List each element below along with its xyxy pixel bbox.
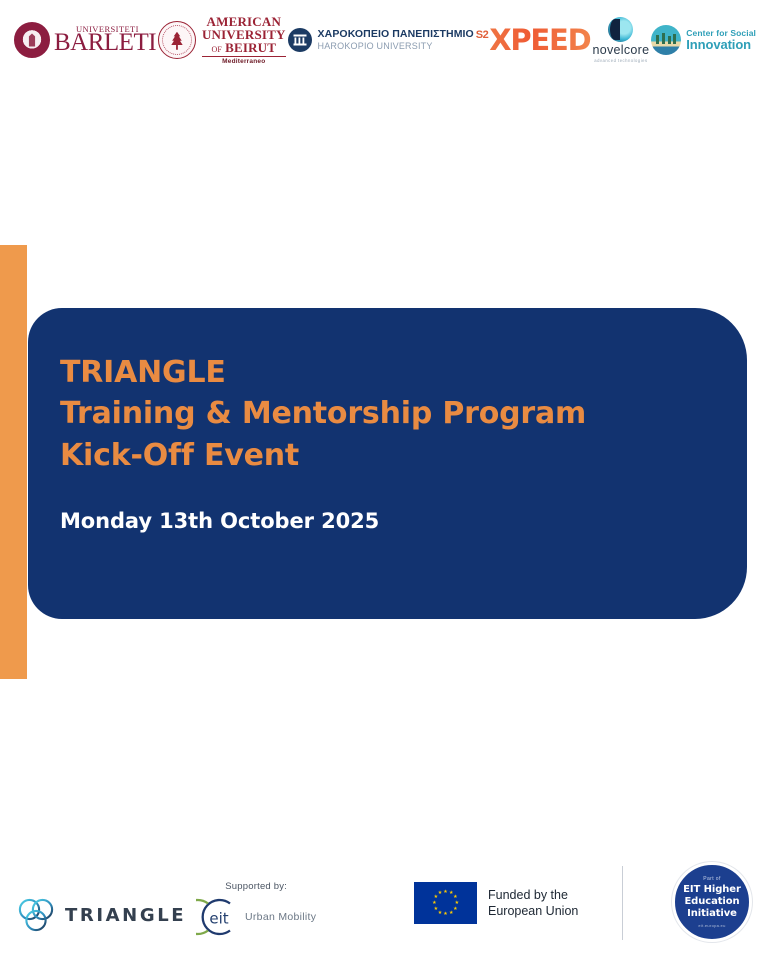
logo-s2-xpeed: S2 XPEED [476,28,591,53]
eit-urban-mobility-name: Urban Mobility [245,911,316,923]
footer-divider [622,866,623,940]
hei-badge-bottom-text: eit.europa.eu [698,923,725,928]
eit-urban-mobility-logo: eit Urban Mobility [196,896,316,938]
partner-logo-strip: UNIVERSITETI BARLETI AMERICAN UNIVERSITY… [0,0,768,80]
aub-line1: AMERICAN [207,15,282,28]
novelcore-wordmark: novelcore [592,44,649,57]
hei-badge-top-text: Part of [703,876,721,882]
eu-funding-text: Funded by the European Union [488,887,578,920]
aub-line3-row: OF BEIRUT [211,41,276,54]
logo-center-for-social-innovation: Center for Social Innovation [651,25,756,55]
triangle-project-logo: TRIANGLE [16,896,186,934]
hero-panel: TRIANGLE Training & Mentorship Program K… [28,308,747,619]
barleti-wordmark: UNIVERSITETI BARLETI [54,25,156,54]
logo-american-university-of-beirut: AMERICAN UNIVERSITY OF BEIRUT Mediterran… [158,15,286,66]
xpeed-prefix: S2 [476,30,488,41]
logo-harokopio-university: ΧΑΡΟΚΟΠΕΙΟ ΠΑΝΕΠΙΣΤΗΜΙΟ HAROKOPIO UNIVER… [288,28,474,52]
harokopio-greek-name: ΧΑΡΟΚΟΠΕΙΟ ΠΑΝΕΠΙΣΤΗΜΙΟ [318,29,474,41]
triangle-wordmark: TRIANGLE [65,905,186,926]
aub-seal-icon [158,21,196,59]
eit-circle-icon: eit [196,896,242,938]
title-line-2: Training & Mentorship Program [60,393,707,434]
harokopio-wordmark: ΧΑΡΟΚΟΠΕΙΟ ΠΑΝΕΠΙΣΤΗΜΙΟ HAROKOPIO UNIVER… [318,29,474,51]
aub-subtitle: Mediterraneo [222,59,265,66]
logo-universiteti-barleti: UNIVERSITETI BARLETI [14,22,156,58]
aub-wordmark: AMERICAN UNIVERSITY OF BEIRUT Mediterran… [202,15,286,66]
barleti-seal-icon [14,22,50,58]
eu-funding-block: ★ ★ ★ ★ ★ ★ ★ ★ ★ ★ ★ ★ Funded by the Eu… [414,882,578,924]
csi-badge-icon [651,25,681,55]
title-line-1: TRIANGLE [60,352,707,393]
supported-by-block: Supported by: eit Urban Mobility [196,881,316,938]
aub-line3: BEIRUT [225,41,276,54]
title-line-3: Kick-Off Event [60,435,707,476]
eu-flag-icon: ★ ★ ★ ★ ★ ★ ★ ★ ★ ★ ★ ★ [414,882,477,924]
logo-novelcore: novelcore advanced technologies [592,17,649,63]
novelcore-orb-icon [608,17,633,42]
csi-line2: Innovation [686,38,756,52]
harokopio-building-icon [288,28,312,52]
slide-canvas: UNIVERSITETI BARLETI AMERICAN UNIVERSITY… [0,0,768,960]
harokopio-english-name: HAROKOPIO UNIVERSITY [318,41,474,51]
svg-text:eit: eit [209,910,228,928]
footer: TRIANGLE Supported by: eit Urban Mobilit… [0,848,768,960]
eu-funding-line1: Funded by the [488,887,578,903]
csi-wordmark: Center for Social Innovation [686,29,756,52]
eit-hei-badge: Part of EIT Higher Education Initiative … [672,862,752,942]
hei-badge-line1: EIT Higher [683,884,741,896]
hei-badge-line2: Education [684,896,739,908]
xpeed-wordmark: XPEED [489,28,590,53]
page-title: TRIANGLE Training & Mentorship Program K… [60,352,707,476]
novelcore-tagline: advanced technologies [594,59,647,63]
orange-accent-bar [0,245,27,679]
barleti-line2: BARLETI [54,31,156,55]
cedar-tree-icon [169,32,184,50]
hei-badge-line3: Initiative [687,908,737,920]
eu-funding-line2: European Union [488,903,578,919]
supported-by-label: Supported by: [225,881,287,892]
event-date: Monday 13th October 2025 [60,509,707,533]
triangle-trefoil-icon [16,896,56,934]
aub-of: OF [211,46,222,54]
aub-line2: UNIVERSITY [202,28,286,41]
